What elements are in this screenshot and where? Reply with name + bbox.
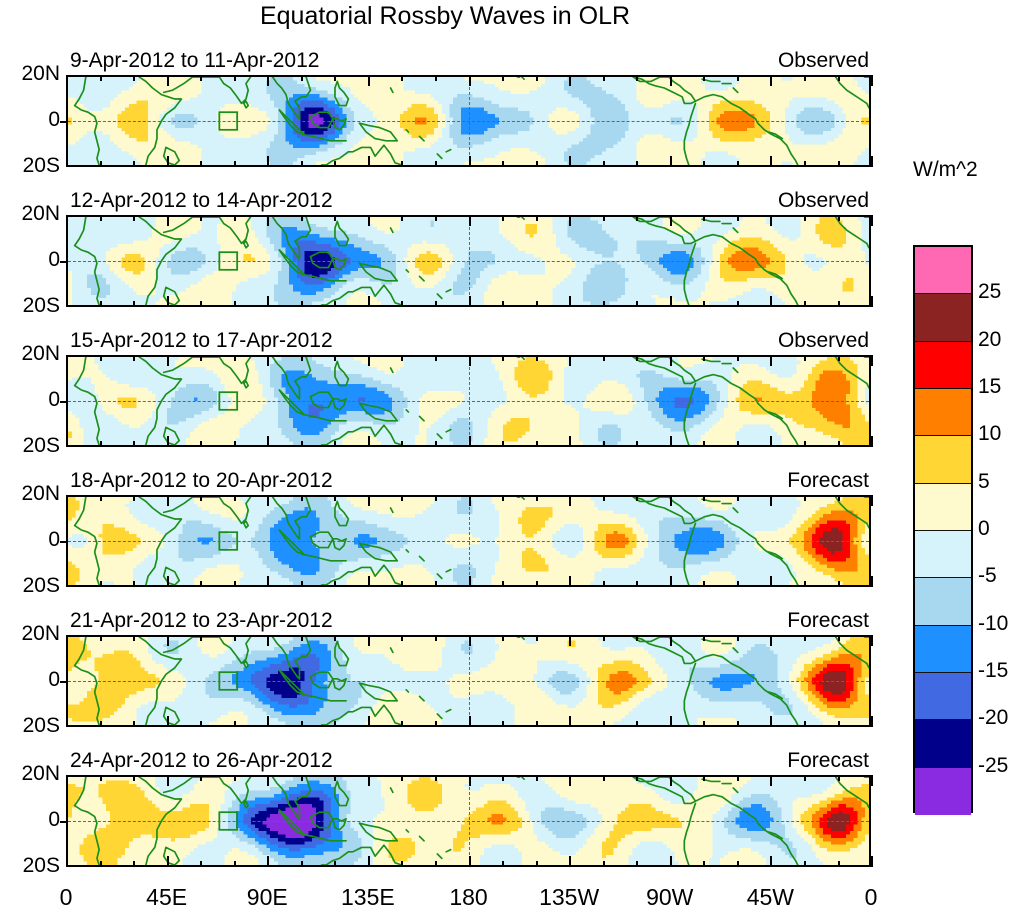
- map-panel-6[interactable]: [66, 775, 871, 867]
- y-axis-tick: [60, 541, 68, 543]
- x-axis-tick-label: 0: [865, 884, 878, 911]
- panel-date-range: 24-Apr-2012 to 26-Apr-2012: [70, 749, 333, 773]
- y-axis-label: 20S: [0, 434, 60, 458]
- y-axis-tick: [60, 401, 68, 403]
- colorbar: [913, 245, 973, 813]
- panel-header-5: 21-Apr-2012 to 23-Apr-2012Forecast: [66, 609, 871, 635]
- panel-kind-label: Observed: [778, 189, 869, 213]
- panel-header-1: 9-Apr-2012 to 11-Apr-2012Observed: [66, 49, 871, 75]
- colorbar-tick-label: -10: [978, 612, 1008, 636]
- colorbar-band: [915, 436, 971, 483]
- colorbar-tick-label: 20: [978, 328, 1001, 352]
- dateline-meridian: [469, 77, 470, 165]
- colorbar-tick-label: 10: [978, 422, 1001, 446]
- colorbar-band: [915, 484, 971, 531]
- colorbar-unit-label: W/m^2: [913, 158, 1021, 182]
- x-axis-tick-label: 45E: [146, 884, 187, 911]
- panel-kind-label: Observed: [778, 329, 869, 353]
- colorbar-band: [915, 342, 971, 389]
- colorbar-tick-label: 5: [978, 470, 990, 494]
- x-axis-tick-label: 90E: [247, 884, 288, 911]
- y-axis-label: 20S: [0, 714, 60, 738]
- y-axis-label: 20N: [0, 62, 60, 86]
- y-axis-label: 20S: [0, 294, 60, 318]
- colorbar-tick-label: -25: [978, 754, 1008, 778]
- y-axis-tick: [60, 681, 68, 683]
- x-axis-labels: 045E90E135E180135W90W45W0: [0, 884, 1021, 914]
- panel-kind-label: Forecast: [787, 469, 869, 493]
- y-axis-label: 20S: [0, 574, 60, 598]
- y-axis-label: 20N: [0, 482, 60, 506]
- page-title: Equatorial Rossby Waves in OLR: [0, 2, 890, 31]
- y-axis-label: 20N: [0, 202, 60, 226]
- panel-header-2: 12-Apr-2012 to 14-Apr-2012Observed: [66, 189, 871, 215]
- dateline-meridian: [469, 357, 470, 445]
- y-axis-tick: [60, 261, 68, 263]
- y-axis-label: 0: [0, 108, 60, 132]
- colorbar-band: [915, 720, 971, 767]
- colorbar-tick-label: -15: [978, 659, 1008, 683]
- x-axis-tick-label: 135E: [341, 884, 395, 911]
- panel-date-range: 21-Apr-2012 to 23-Apr-2012: [70, 609, 333, 633]
- colorbar-tick-label: -20: [978, 706, 1008, 730]
- colorbar-tick-label: 15: [978, 375, 1001, 399]
- y-axis-tick: [60, 821, 68, 823]
- x-axis-tick-label: 135W: [539, 884, 599, 911]
- colorbar-band: [915, 389, 971, 436]
- map-panel-5[interactable]: [66, 635, 871, 727]
- panel-date-range: 18-Apr-2012 to 20-Apr-2012: [70, 469, 333, 493]
- colorbar-band: [915, 531, 971, 578]
- panel-header-6: 24-Apr-2012 to 26-Apr-2012Forecast: [66, 749, 871, 775]
- panel-kind-label: Forecast: [787, 749, 869, 773]
- colorbar-band: [915, 294, 971, 341]
- colorbar-band: [915, 673, 971, 720]
- panel-header-4: 18-Apr-2012 to 20-Apr-2012Forecast: [66, 469, 871, 495]
- x-axis-tick-label: 180: [449, 884, 487, 911]
- panel-kind-label: Forecast: [787, 609, 869, 633]
- dateline-meridian: [469, 217, 470, 305]
- x-axis-tick-label: 90W: [646, 884, 693, 911]
- y-axis-label: 0: [0, 388, 60, 412]
- map-panel-3[interactable]: [66, 355, 871, 447]
- y-axis-label: 20N: [0, 342, 60, 366]
- y-axis-label: 20N: [0, 762, 60, 786]
- colorbar-tick-label: -5: [978, 564, 997, 588]
- panel-header-3: 15-Apr-2012 to 17-Apr-2012Observed: [66, 329, 871, 355]
- x-axis-tick-label: 0: [60, 884, 73, 911]
- y-axis-tick: [60, 121, 68, 123]
- y-axis-label: 0: [0, 808, 60, 832]
- colorbar-tick-label: 0: [978, 517, 990, 541]
- colorbar-band: [915, 247, 971, 294]
- x-axis-tick-label: 45W: [747, 884, 794, 911]
- y-axis-label: 20S: [0, 854, 60, 878]
- colorbar-band: [915, 578, 971, 625]
- colorbar-band: [915, 626, 971, 673]
- panel-date-range: 9-Apr-2012 to 11-Apr-2012: [70, 49, 319, 73]
- dateline-meridian: [469, 777, 470, 865]
- map-panel-4[interactable]: [66, 495, 871, 587]
- map-panel-1[interactable]: [66, 75, 871, 167]
- dateline-meridian: [469, 497, 470, 585]
- map-panel-2[interactable]: [66, 215, 871, 307]
- dateline-meridian: [469, 637, 470, 725]
- y-axis-label: 0: [0, 668, 60, 692]
- figure: Equatorial Rossby Waves in OLR 9-Apr-201…: [0, 0, 1021, 922]
- panel-date-range: 15-Apr-2012 to 17-Apr-2012: [70, 329, 333, 353]
- y-axis-label: 20N: [0, 622, 60, 646]
- panel-date-range: 12-Apr-2012 to 14-Apr-2012: [70, 189, 333, 213]
- colorbar-band: [915, 768, 971, 815]
- y-axis-label: 0: [0, 248, 60, 272]
- y-axis-label: 0: [0, 528, 60, 552]
- y-axis-label: 20S: [0, 154, 60, 178]
- colorbar-tick-label: 25: [978, 280, 1001, 304]
- panel-kind-label: Observed: [778, 49, 869, 73]
